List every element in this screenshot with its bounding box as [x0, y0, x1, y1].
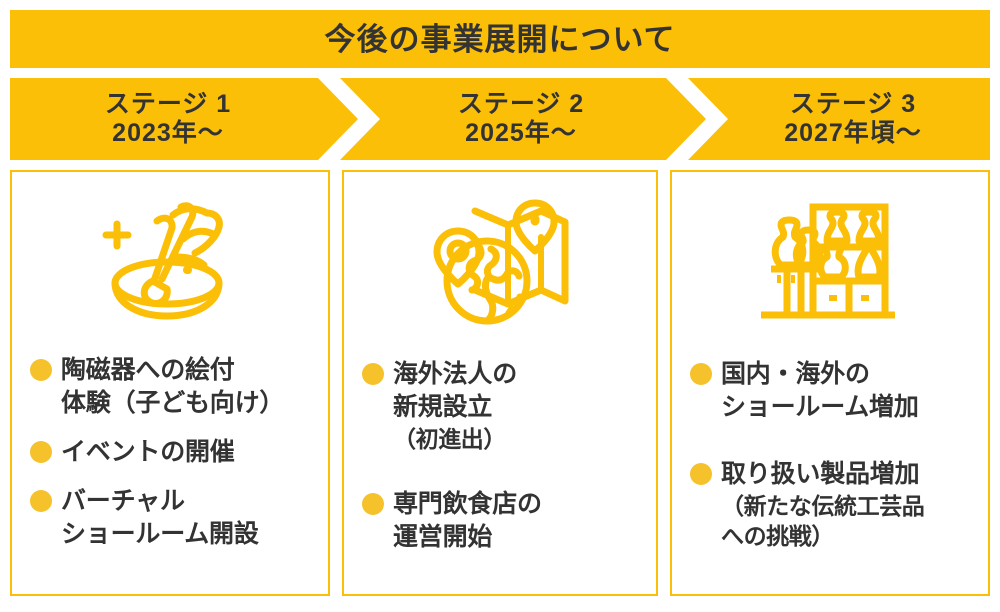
page-title: 今後の事業展開について — [324, 24, 675, 55]
bullet-text: 陶磁器への絵付体験（子ども向け） — [61, 354, 284, 420]
bullet-text: 国内・海外のショールーム増加 — [721, 358, 919, 424]
globe-map-icon — [344, 186, 656, 336]
page-title-bar: 今後の事業展開について — [10, 10, 990, 68]
stage-chevron-2[interactable]: ステージ 2 2025年〜 — [340, 78, 706, 160]
bullet-text: 取り扱い製品増加（新たな伝統工芸品への挑戦） — [721, 458, 924, 552]
panel-stage-3: 国内・海外のショールーム増加 取り扱い製品増加（新たな伝統工芸品への挑戦） — [670, 170, 990, 596]
stage-chevron-1[interactable]: ステージ 1 2023年〜 — [10, 78, 358, 160]
bullet-text: イベントの開催 — [61, 436, 235, 469]
list-item: イベントの開催 — [30, 436, 314, 469]
bullet-text: バーチャルショールーム開設 — [61, 485, 259, 551]
showroom-shelf-icon — [672, 186, 988, 336]
bullet-dot-icon — [30, 359, 52, 381]
bullet-dot-icon — [690, 463, 712, 485]
stage-3-period: 2027年頃〜 — [784, 119, 922, 149]
list-item: 国内・海外のショールーム増加 — [690, 358, 974, 424]
panel-2-bullets: 海外法人の新規設立（初進出） 専門飲食店の運営開始 — [344, 358, 656, 588]
bullet-dot-icon — [362, 363, 384, 385]
stage-2-period: 2025年〜 — [458, 119, 584, 149]
infographic-root: 今後の事業展開について ステージ 1 2023年〜 ステージ 2 2025年〜 … — [0, 0, 1000, 612]
panel-3-bullets: 国内・海外のショールーム増加 取り扱い製品増加（新たな伝統工芸品への挑戦） — [672, 358, 988, 586]
bullet-dot-icon — [362, 493, 384, 515]
bullet-text: 海外法人の新規設立（初進出） — [393, 358, 517, 454]
list-item: バーチャルショールーム開設 — [30, 485, 314, 551]
bullet-dot-icon — [690, 363, 712, 385]
pottery-painting-icon — [12, 186, 328, 336]
list-item: 陶磁器への絵付体験（子ども向け） — [30, 354, 314, 420]
list-item: 海外法人の新規設立（初進出） — [362, 358, 642, 454]
list-item: 専門飲食店の運営開始 — [362, 488, 642, 554]
panel-stage-2: 海外法人の新規設立（初進出） 専門飲食店の運営開始 — [342, 170, 658, 596]
list-item: 取り扱い製品増加（新たな伝統工芸品への挑戦） — [690, 458, 974, 552]
panel-1-bullets: 陶磁器への絵付体験（子ども向け） イベントの開催 バーチャルショールーム開設 — [12, 354, 328, 551]
stage-2-name: ステージ 2 — [458, 90, 584, 120]
stage-1-name: ステージ 1 — [105, 90, 231, 120]
bullet-dot-icon — [30, 441, 52, 463]
stage-timeline: ステージ 1 2023年〜 ステージ 2 2025年〜 ステージ 3 2027年… — [10, 78, 990, 160]
stage-1-period: 2023年〜 — [105, 119, 231, 149]
bullet-text: 専門飲食店の運営開始 — [393, 488, 542, 554]
stage-chevron-3[interactable]: ステージ 3 2027年頃〜 — [688, 78, 990, 160]
bullet-dot-icon — [30, 490, 52, 512]
panel-stage-1: 陶磁器への絵付体験（子ども向け） イベントの開催 バーチャルショールーム開設 — [10, 170, 330, 596]
stage-3-name: ステージ 3 — [784, 90, 922, 120]
